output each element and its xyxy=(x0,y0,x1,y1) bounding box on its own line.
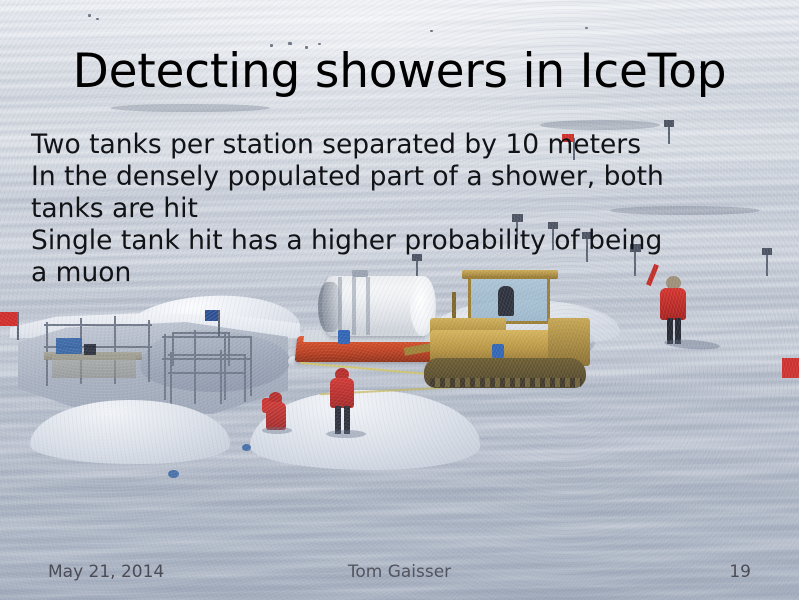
body-line: tanks are hit xyxy=(31,193,731,225)
body-line: Two tanks per station separated by 10 me… xyxy=(31,129,731,161)
body-line: a muon xyxy=(31,257,731,289)
body-line: In the densely populated part of a showe… xyxy=(31,161,731,193)
slide-text-layer: Detecting showers in IceTop Two tanks pe… xyxy=(0,0,799,600)
slide-body-text: Two tanks per station separated by 10 me… xyxy=(31,129,731,289)
body-line: Single tank hit has a higher probability… xyxy=(31,225,731,257)
slide-footer: May 21, 2014 Tom Gaisser 19 xyxy=(0,562,799,586)
presentation-slide: Detecting showers in IceTop Two tanks pe… xyxy=(0,0,799,600)
footer-author: Tom Gaisser xyxy=(0,562,799,582)
slide-title: Detecting showers in IceTop xyxy=(0,44,799,100)
footer-page-number: 19 xyxy=(729,562,751,582)
